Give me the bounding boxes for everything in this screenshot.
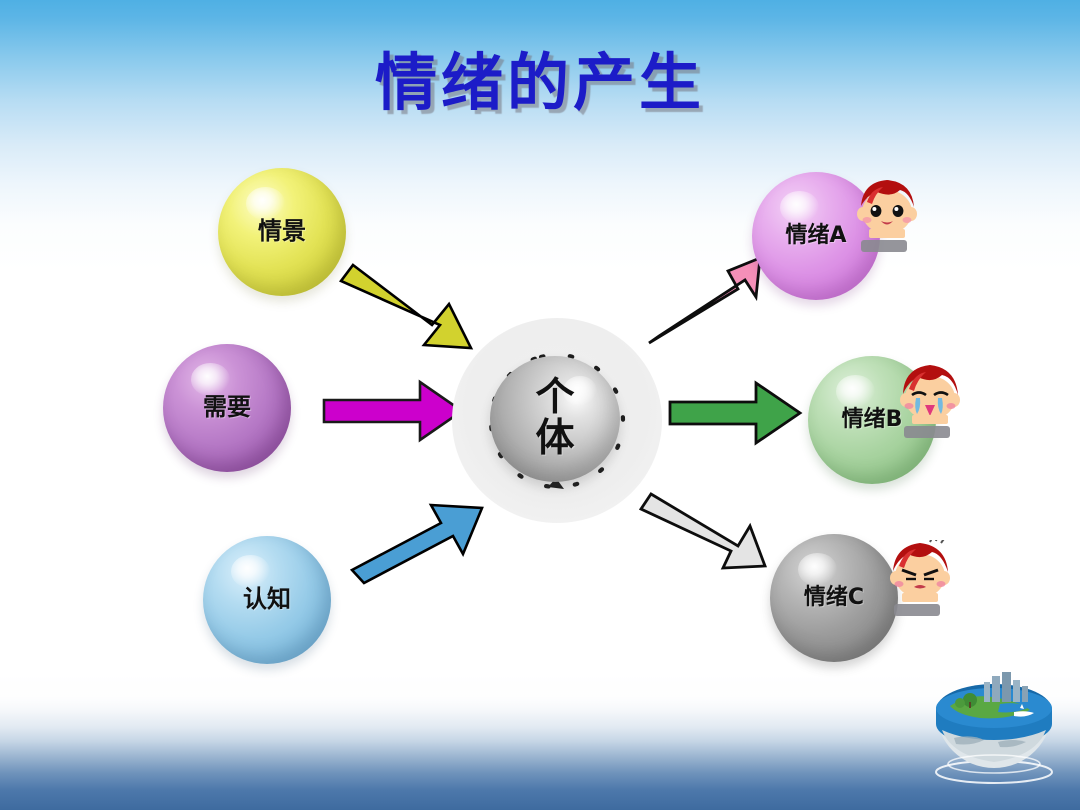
sphere-emotion-c-label: 情绪C bbox=[804, 586, 864, 609]
sphere-need[interactable]: 需要 bbox=[163, 344, 291, 472]
angry-face-icon bbox=[888, 540, 952, 602]
globe-city-image bbox=[928, 668, 1060, 788]
arrow-scene-to-self bbox=[341, 265, 471, 348]
arrow-self-to-emotion-a bbox=[649, 258, 760, 343]
face-c-bar bbox=[894, 604, 940, 616]
sphere-individual[interactable]: 个 体 bbox=[490, 356, 620, 482]
happy-face-icon bbox=[855, 176, 919, 238]
sphere-emotion-a-label: 情绪A bbox=[785, 224, 846, 247]
face-b-bar bbox=[904, 426, 950, 438]
sphere-emotion-c[interactable]: 情绪C bbox=[770, 534, 898, 662]
arrow-cognition-to-self bbox=[352, 505, 482, 583]
arrow-self-to-emotion-c bbox=[641, 494, 765, 568]
sphere-individual-label: 个 体 bbox=[535, 378, 574, 459]
face-a-bar bbox=[861, 240, 907, 252]
sphere-cognition[interactable]: 认知 bbox=[203, 536, 331, 664]
sphere-cognition-label: 认知 bbox=[243, 587, 291, 612]
sphere-scene-label: 情景 bbox=[258, 219, 306, 244]
sphere-need-label: 需要 bbox=[203, 395, 251, 420]
sphere-scene[interactable]: 情景 bbox=[218, 168, 346, 296]
sphere-emotion-b-label: 情绪B bbox=[842, 408, 903, 431]
arrow-self-to-emotion-b bbox=[670, 383, 800, 443]
arrow-need-to-self bbox=[324, 382, 462, 440]
slide-canvas: 情绪的产生 情景 需要 认知 个 体 情绪A 情绪B 情绪C bbox=[0, 0, 1080, 810]
crying-face-icon bbox=[898, 362, 962, 424]
